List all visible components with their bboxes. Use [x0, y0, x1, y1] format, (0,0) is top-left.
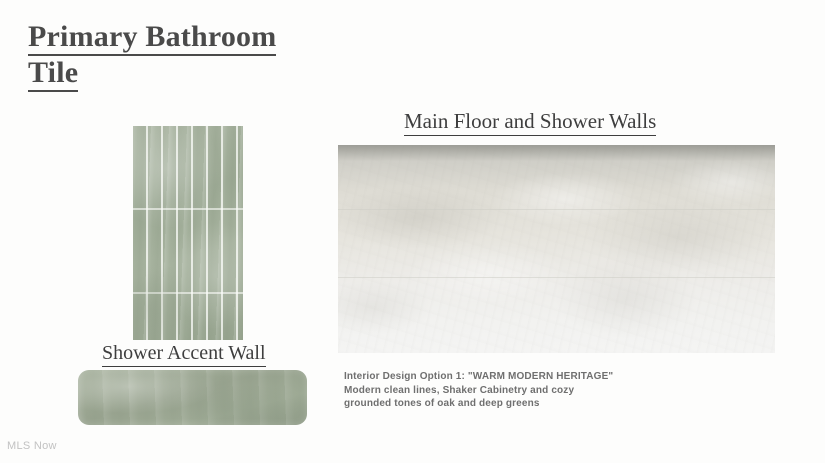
- page-title: Primary Bathroom Tile: [28, 20, 368, 92]
- mls-now-watermark: MLS Now: [7, 440, 57, 452]
- shower-accent-wall-heading-text: Shower Accent Wall: [102, 342, 266, 367]
- tile-speckle-texture: [338, 145, 775, 353]
- tile-tonal-band: [338, 209, 775, 210]
- page-title-line-1-text: Primary Bathroom: [28, 20, 276, 56]
- main-floor-tile-swatch: [338, 145, 775, 353]
- main-floor-heading: Main Floor and Shower Walls: [404, 109, 656, 136]
- main-floor-heading-text: Main Floor and Shower Walls: [404, 109, 656, 136]
- page-title-line-2: Tile: [28, 56, 368, 92]
- page-title-line-1: Primary Bathroom: [28, 20, 368, 56]
- shower-accent-vertical-tile-swatch: [133, 126, 243, 340]
- caption-line-1: Interior Design Option 1: "WARM MODERN H…: [344, 370, 613, 384]
- shower-accent-wall-heading: Shower Accent Wall: [102, 342, 266, 367]
- caption-line-2: Modern clean lines, Shaker Cabinetry and…: [344, 384, 613, 398]
- shower-accent-rounded-tile-swatch: [78, 370, 307, 425]
- caption-line-3: grounded tones of oak and deep greens: [344, 397, 613, 411]
- tile-tonal-band: [338, 277, 775, 278]
- slide-canvas: { "slide": { "title_line1": "Primary Bat…: [0, 0, 825, 463]
- page-title-line-2-text: Tile: [28, 56, 78, 92]
- design-option-caption: Interior Design Option 1: "WARM MODERN H…: [344, 370, 613, 411]
- tile-sheen-texture: [133, 126, 243, 340]
